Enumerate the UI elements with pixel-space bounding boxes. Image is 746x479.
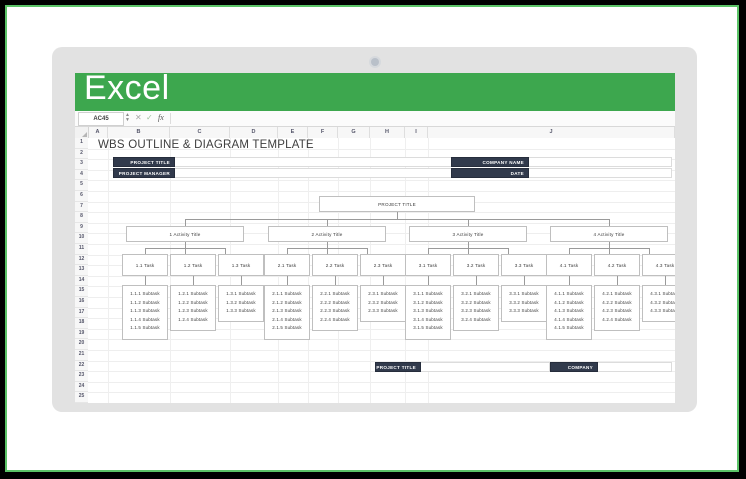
subtask-box-2-1[interactable]: 2.1.1 Subtask 2.1.2 Subtask 2.1.3 Subtas… [264, 285, 310, 340]
connector [383, 276, 384, 285]
subtask-item: 3.1.1 Subtask [406, 290, 450, 299]
subtask-item: 1.3.1 Subtask [219, 290, 263, 299]
row-header-column: 1234567891011121314151617181920212223242… [75, 138, 89, 403]
task-node-4-1[interactable]: 4.1 Task [546, 254, 592, 276]
subtask-item: 4.1.5 Subtask [547, 324, 591, 333]
tablet-device: Excel AC45 ▲▼ ✕ ✓ fx ABCDEFGHIJ 12345678… [52, 47, 697, 412]
spreadsheet-grid[interactable]: WBS OUTLINE & DIAGRAM TEMPLATE PROJECT T… [88, 138, 675, 403]
row-header-9[interactable]: 9 [75, 223, 88, 234]
connector [609, 219, 610, 226]
excel-screen: Excel AC45 ▲▼ ✕ ✓ fx ABCDEFGHIJ 12345678… [75, 73, 675, 403]
task-node-1-2[interactable]: 1.2 Task [170, 254, 216, 276]
page-frame: Excel AC45 ▲▼ ✕ ✓ fx ABCDEFGHIJ 12345678… [5, 5, 739, 472]
connector [468, 219, 469, 226]
gridline-horizontal [88, 382, 675, 383]
subtask-item: 2.2.4 Subtask [313, 316, 357, 325]
subtask-item: 4.2.1 Subtask [595, 290, 639, 299]
subtask-item: 3.3.2 Subtask [502, 299, 546, 308]
activity-node-3[interactable]: 3 Activity Title [409, 226, 527, 242]
row-header-19[interactable]: 19 [75, 329, 88, 340]
subtask-item: 1.3.2 Subtask [219, 299, 263, 308]
connector [185, 219, 610, 220]
subtask-item: 2.1.5 Subtask [265, 324, 309, 333]
subtask-box-3-3[interactable]: 3.3.1 Subtask 3.3.2 Subtask 3.3.3 Subtas… [501, 285, 547, 322]
subtask-item: 2.2.3 Subtask [313, 307, 357, 316]
gridline-horizontal [88, 223, 675, 224]
subtask-item: 1.1.3 Subtask [123, 307, 167, 316]
subtask-item: 1.2.1 Subtask [171, 290, 215, 299]
excel-logo: Excel [84, 73, 170, 108]
close-icon[interactable]: ✕ [135, 112, 142, 124]
connector [476, 276, 477, 285]
row-header-8[interactable]: 8 [75, 212, 88, 223]
fx-icon[interactable]: fx [158, 112, 164, 124]
task-node-1-3[interactable]: 1.3 Task [218, 254, 264, 276]
column-header-g[interactable]: G [338, 127, 370, 138]
column-header-e[interactable]: E [278, 127, 308, 138]
connector [185, 219, 186, 226]
row-header-10[interactable]: 10 [75, 233, 88, 244]
gridline-horizontal [88, 392, 675, 393]
column-header-i[interactable]: I [405, 127, 428, 138]
connector [335, 276, 336, 285]
project-manager-field[interactable] [174, 168, 498, 178]
row-header-11[interactable]: 11 [75, 244, 88, 255]
subtask-item: 2.2.1 Subtask [313, 290, 357, 299]
gridline-horizontal [88, 191, 675, 192]
row-header-5[interactable]: 5 [75, 180, 88, 191]
activity-node-4[interactable]: 4 Activity Title [550, 226, 668, 242]
subtask-item: 4.3.2 Subtask [643, 299, 675, 308]
camera-icon [371, 58, 379, 66]
row-header-6[interactable]: 6 [75, 191, 88, 202]
subtask-item: 4.1.3 Subtask [547, 307, 591, 316]
name-box[interactable]: AC45 [78, 112, 124, 126]
task-node-4-3[interactable]: 4.3 Task [642, 254, 675, 276]
row-header-2[interactable]: 2 [75, 149, 88, 160]
task-node-2-1[interactable]: 2.1 Task [264, 254, 310, 276]
footer-project-title-field[interactable] [420, 362, 550, 372]
task-node-3-1[interactable]: 3.1 Task [405, 254, 451, 276]
connector [617, 276, 618, 285]
subtask-box-2-2[interactable]: 2.2.1 Subtask 2.2.2 Subtask 2.2.3 Subtas… [312, 285, 358, 331]
column-header-h[interactable]: H [370, 127, 405, 138]
subtask-item: 3.1.5 Subtask [406, 324, 450, 333]
task-node-2-3[interactable]: 2.3 Task [360, 254, 406, 276]
date-field[interactable] [528, 168, 672, 178]
connector [145, 276, 146, 285]
row-header-3[interactable]: 3 [75, 159, 88, 170]
footer-company-field[interactable] [597, 362, 672, 372]
subtask-item: 4.3.1 Subtask [643, 290, 675, 299]
gridline-horizontal [88, 350, 675, 351]
check-icon[interactable]: ✓ [146, 112, 153, 124]
subtask-item: 1.3.3 Subtask [219, 307, 263, 316]
row-header-13[interactable]: 13 [75, 265, 88, 276]
footer-project-title-label: PROJECT TITLE [375, 362, 421, 372]
subtask-item: 2.3.3 Subtask [361, 307, 405, 316]
connector [665, 276, 666, 285]
subtask-item: 2.3.2 Subtask [361, 299, 405, 308]
excel-ribbon: Excel [75, 73, 675, 111]
subtask-item: 4.1.1 Subtask [547, 290, 591, 299]
formula-bar-divider [170, 113, 171, 124]
task-node-4-2[interactable]: 4.2 Task [594, 254, 640, 276]
subtask-box-3-2[interactable]: 3.2.1 Subtask 3.2.2 Subtask 3.2.3 Subtas… [453, 285, 499, 331]
subtask-item: 2.1.4 Subtask [265, 316, 309, 325]
subtask-item: 3.2.4 Subtask [454, 316, 498, 325]
activity-node-2[interactable]: 2 Activity Title [268, 226, 386, 242]
row-header-18[interactable]: 18 [75, 318, 88, 329]
row-header-25[interactable]: 25 [75, 392, 88, 403]
project-manager-label: PROJECT MANAGER [113, 168, 175, 178]
row-header-1[interactable]: 1 [75, 138, 88, 149]
subtask-box-4-2[interactable]: 4.2.1 Subtask 4.2.2 Subtask 4.2.3 Subtas… [594, 285, 640, 331]
row-header-24[interactable]: 24 [75, 382, 88, 393]
subtask-item: 3.2.2 Subtask [454, 299, 498, 308]
subtask-box-3-1[interactable]: 3.1.1 Subtask 3.1.2 Subtask 3.1.3 Subtas… [405, 285, 451, 340]
subtask-item: 3.3.1 Subtask [502, 290, 546, 299]
row-header-12[interactable]: 12 [75, 255, 88, 266]
row-header-7[interactable]: 7 [75, 202, 88, 213]
subtask-item: 1.1.1 Subtask [123, 290, 167, 299]
connector [524, 276, 525, 285]
gridline-horizontal [88, 212, 675, 213]
connector [569, 276, 570, 285]
subtask-item: 2.1.2 Subtask [265, 299, 309, 308]
column-header-a[interactable]: A [88, 127, 108, 138]
row-header-4[interactable]: 4 [75, 170, 88, 181]
connector [241, 276, 242, 285]
connector [327, 219, 328, 226]
connector [397, 212, 398, 219]
subtask-item: 4.2.2 Subtask [595, 299, 639, 308]
subtask-item: 3.1.2 Subtask [406, 299, 450, 308]
task-node-3-2[interactable]: 3.2 Task [453, 254, 499, 276]
subtask-item: 3.2.3 Subtask [454, 307, 498, 316]
column-header-d[interactable]: D [230, 127, 278, 138]
row-header-17[interactable]: 17 [75, 308, 88, 319]
subtask-item: 1.1.4 Subtask [123, 316, 167, 325]
select-all-corner[interactable] [75, 127, 89, 138]
subtask-box-1-3[interactable]: 1.3.1 Subtask 1.3.2 Subtask 1.3.3 Subtas… [218, 285, 264, 322]
subtask-item: 4.2.3 Subtask [595, 307, 639, 316]
column-header-b[interactable]: B [108, 127, 170, 138]
activity-node-1[interactable]: 1 Activity Title [126, 226, 244, 242]
project-title-label: PROJECT TITLE [113, 157, 175, 167]
subtask-box-4-3[interactable]: 4.3.1 Subtask 4.3.2 Subtask 4.3.3 Subtas… [642, 285, 675, 322]
subtask-item: 3.1.3 Subtask [406, 307, 450, 316]
project-title-field[interactable] [174, 157, 498, 167]
subtask-item: 3.3.3 Subtask [502, 307, 546, 316]
subtask-item: 4.1.2 Subtask [547, 299, 591, 308]
row-header-21[interactable]: 21 [75, 350, 88, 361]
row-header-20[interactable]: 20 [75, 339, 88, 350]
subtask-box-1-2[interactable]: 1.2.1 Subtask 1.2.2 Subtask 1.2.3 Subtas… [170, 285, 216, 331]
column-header-j[interactable]: J [428, 127, 675, 138]
subtask-box-4-1[interactable]: 4.1.1 Subtask 4.1.2 Subtask 4.1.3 Subtas… [546, 285, 592, 340]
company-name-field[interactable] [528, 157, 672, 167]
page-title: WBS OUTLINE & DIAGRAM TEMPLATE [98, 139, 314, 151]
name-box-spinner[interactable]: ▲▼ [124, 113, 131, 124]
task-node-1-1[interactable]: 1.1 Task [122, 254, 168, 276]
gridline-horizontal [88, 244, 675, 245]
column-header-c[interactable]: C [170, 127, 230, 138]
task-node-2-2[interactable]: 2.2 Task [312, 254, 358, 276]
subtask-item: 4.2.4 Subtask [595, 316, 639, 325]
subtask-item: 1.2.3 Subtask [171, 307, 215, 316]
subtask-item: 2.2.2 Subtask [313, 299, 357, 308]
date-label: DATE [451, 168, 529, 178]
subtask-item: 3.2.1 Subtask [454, 290, 498, 299]
gridline-vertical [108, 138, 109, 403]
row-header-16[interactable]: 16 [75, 297, 88, 308]
subtask-item: 1.2.4 Subtask [171, 316, 215, 325]
formula-bar: AC45 ▲▼ ✕ ✓ fx [75, 111, 675, 127]
subtask-item: 1.2.2 Subtask [171, 299, 215, 308]
subtask-item: 2.1.3 Subtask [265, 307, 309, 316]
subtask-item: 1.1.5 Subtask [123, 324, 167, 333]
row-header-23[interactable]: 23 [75, 371, 88, 382]
subtask-item: 2.1.1 Subtask [265, 290, 309, 299]
connector [287, 276, 288, 285]
subtask-item: 4.3.3 Subtask [643, 307, 675, 316]
task-node-3-3[interactable]: 3.3 Task [501, 254, 547, 276]
connector [193, 276, 194, 285]
column-header-f[interactable]: F [308, 127, 338, 138]
subtask-item: 1.1.2 Subtask [123, 299, 167, 308]
company-name-label: COMPANY NAME [451, 157, 529, 167]
row-header-22[interactable]: 22 [75, 361, 88, 372]
subtask-item: 3.1.4 Subtask [406, 316, 450, 325]
footer-company-label: COMPANY [550, 362, 598, 372]
subtask-item: 2.3.1 Subtask [361, 290, 405, 299]
gridline-horizontal [88, 180, 675, 181]
row-header-14[interactable]: 14 [75, 276, 88, 287]
subtask-box-2-3[interactable]: 2.3.1 Subtask 2.3.2 Subtask 2.3.3 Subtas… [360, 285, 406, 322]
diagram-root-node[interactable]: PROJECT TITLE [319, 196, 475, 212]
subtask-box-1-1[interactable]: 1.1.1 Subtask 1.1.2 Subtask 1.1.3 Subtas… [122, 285, 168, 340]
subtask-item: 4.1.4 Subtask [547, 316, 591, 325]
connector [428, 276, 429, 285]
row-header-15[interactable]: 15 [75, 286, 88, 297]
